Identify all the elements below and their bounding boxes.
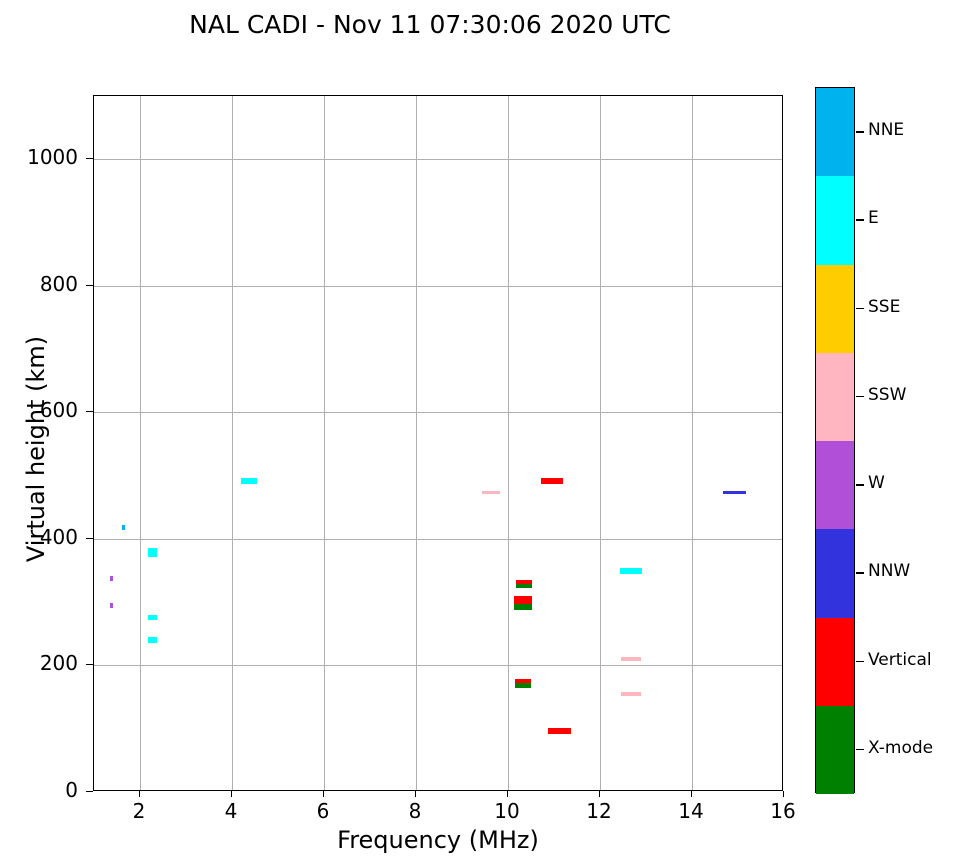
x-tick-label: 6 <box>293 799 353 823</box>
y-tick <box>86 285 93 286</box>
data-marker-e <box>148 548 157 557</box>
data-marker-e <box>620 568 642 574</box>
x-tick-label: 16 <box>753 799 813 823</box>
data-marker-ssw <box>621 657 641 661</box>
y-tick <box>86 538 93 539</box>
colorbar-tick <box>856 661 864 662</box>
x-tick-label: 8 <box>385 799 445 823</box>
colorbar-tick <box>856 572 864 573</box>
colorbar-segment-vertical <box>816 618 854 706</box>
x-tick-label: 2 <box>109 799 169 823</box>
data-marker-vertical <box>548 728 570 734</box>
colorbar-label-e: E <box>868 208 879 228</box>
data-marker-ssw <box>482 491 500 494</box>
x-axis-title: Frequency (MHz) <box>93 826 783 854</box>
colorbar-segment-x-mode <box>816 706 854 794</box>
data-marker-ssw <box>621 692 641 696</box>
colorbar-segment-e <box>816 176 854 264</box>
y-axis-title: Virtual height (km) <box>22 269 50 629</box>
data-marker-x-mode <box>516 584 533 588</box>
data-marker-x-mode <box>515 683 532 688</box>
colorbar-label-nne: NNE <box>868 120 904 140</box>
colorbar-label-w: W <box>868 473 885 493</box>
data-marker-w <box>110 603 113 608</box>
colorbar-tick <box>856 308 864 309</box>
colorbar-tick <box>856 131 864 132</box>
colorbar-segment-nnw <box>816 529 854 617</box>
x-tick <box>783 791 784 797</box>
x-tick <box>691 791 692 797</box>
colorbar-label-vertical: Vertical <box>868 650 932 670</box>
colorbar-segment-w <box>816 441 854 529</box>
figure-title: NAL CADI - Nov 11 07:30:06 2020 UTC <box>0 10 860 39</box>
colorbar-tick <box>856 219 864 220</box>
colorbar-tick <box>856 749 864 750</box>
colorbar-label-ssw: SSW <box>868 385 906 405</box>
colorbar-tick <box>856 484 864 485</box>
x-tick-label: 4 <box>201 799 261 823</box>
y-tick-label: 200 <box>8 651 78 675</box>
x-tick-label: 10 <box>477 799 537 823</box>
x-tick <box>231 791 232 797</box>
x-tick <box>415 791 416 797</box>
data-marker-e <box>241 478 256 484</box>
data-marker-nne <box>122 525 125 530</box>
colorbar-segment-ssw <box>816 353 854 441</box>
y-tick-label: 0 <box>8 778 78 802</box>
data-marker-vertical <box>541 478 563 484</box>
y-tick <box>86 158 93 159</box>
plot-area <box>93 95 783 791</box>
colorbar-tick <box>856 396 864 397</box>
data-marker-nnw <box>723 491 746 494</box>
ionogram-figure: NAL CADI - Nov 11 07:30:06 2020 UTC 2468… <box>0 0 958 857</box>
x-tick <box>599 791 600 797</box>
data-markers <box>94 96 782 790</box>
y-tick <box>86 664 93 665</box>
colorbar-segment-nne <box>816 88 854 176</box>
colorbar-label-x-mode: X-mode <box>868 738 933 758</box>
data-marker-w <box>110 576 113 581</box>
x-tick <box>139 791 140 797</box>
x-tick-label: 14 <box>661 799 721 823</box>
y-tick <box>86 791 93 792</box>
x-tick-label: 12 <box>569 799 629 823</box>
y-tick <box>86 411 93 412</box>
colorbar-label-sse: SSE <box>868 297 900 317</box>
x-tick <box>323 791 324 797</box>
colorbar-label-nnw: NNW <box>868 561 910 581</box>
data-marker-e <box>148 615 156 620</box>
colorbar <box>815 87 855 793</box>
x-tick <box>507 791 508 797</box>
data-marker-x-mode <box>514 604 532 610</box>
colorbar-segment-sse <box>816 265 854 353</box>
y-tick-label: 1000 <box>8 145 78 169</box>
data-marker-e <box>148 637 156 643</box>
